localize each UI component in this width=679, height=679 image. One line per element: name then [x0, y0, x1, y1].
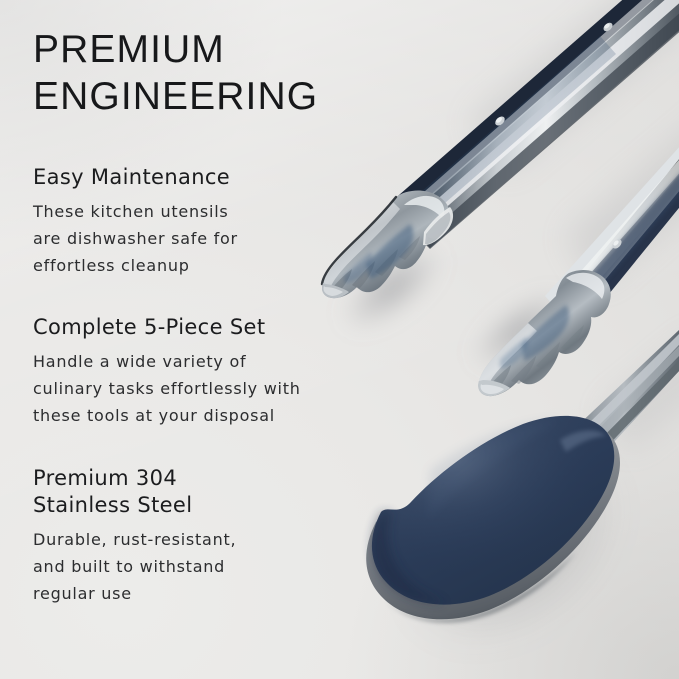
- spatula-handle: [573, 330, 679, 454]
- feature-title: Easy Maintenance: [33, 164, 413, 191]
- feature-body: These kitchen utensils are dishwasher sa…: [33, 198, 413, 279]
- feature-block-complete-set: Complete 5-Piece Set Handle a wide varie…: [33, 314, 413, 429]
- tongs-lower-tip: [478, 270, 611, 396]
- product-feature-image: PREMIUM ENGINEERING Easy Maintenance The…: [0, 0, 679, 679]
- feature-block-easy-maintenance: Easy Maintenance These kitchen utensils …: [33, 164, 413, 279]
- spatula: [366, 330, 679, 623]
- feature-title: Complete 5-Piece Set: [33, 314, 413, 341]
- feature-title: Premium 304 Stainless Steel: [33, 465, 413, 519]
- tongs-lower-arm: [540, 92, 679, 332]
- copy-column: PREMIUM ENGINEERING Easy Maintenance The…: [33, 26, 413, 607]
- feature-block-stainless-steel: Premium 304 Stainless Steel Durable, rus…: [33, 465, 413, 607]
- page-title: PREMIUM ENGINEERING: [33, 26, 413, 120]
- feature-body: Handle a wide variety of culinary tasks …: [33, 348, 413, 429]
- tongs-upper-arm: [390, 0, 679, 249]
- feature-body: Durable, rust-resistant, and built to wi…: [33, 526, 413, 607]
